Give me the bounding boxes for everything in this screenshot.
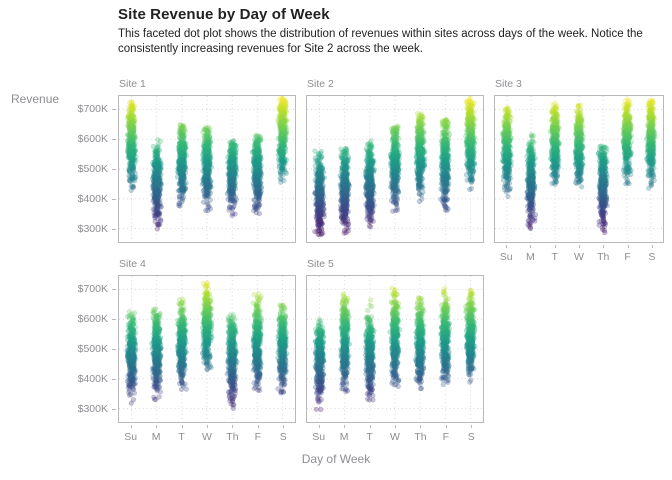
x-tick-mark [628,245,629,248]
x-tick-label-w: W [574,251,584,263]
y-tick-label: $700K [78,283,108,295]
y-tick-label: $600K [78,313,108,325]
x-axis-ticks: SuMTWThFS [118,425,296,441]
chart-header: Site Revenue by Day of Week This faceted… [118,6,663,57]
facet-title: Site 3 [495,78,522,90]
y-tick-mark [112,319,116,320]
facet-title: Site 2 [307,78,334,90]
y-tick-mark [112,349,116,350]
x-tick-mark [446,425,447,428]
x-tick-mark [207,425,208,428]
x-tick-mark [395,425,396,428]
x-tick-label-f: F [255,431,261,443]
x-tick-label-th: Th [226,431,238,443]
x-tick-label-w: W [202,431,212,443]
y-tick-mark [112,409,116,410]
x-tick-mark [156,425,157,428]
y-tick-label: $400K [78,373,108,385]
x-tick-label-m: M [152,431,161,443]
x-tick-mark [506,245,507,248]
chart-subtitle: This faceted dot plot shows the distribu… [118,27,658,57]
plot-area [306,275,484,423]
y-tick-mark [112,379,116,380]
plot-area [118,95,296,243]
y-axis-ticks: $300K$400K$500K$600K$700K [52,95,116,243]
x-axis-title: Day of Week [0,452,672,466]
x-tick-mark [652,245,653,248]
x-axis-ticks: SuMTWThFS [494,245,664,261]
x-tick-mark [530,245,531,248]
y-tick-label: $500K [78,343,108,355]
facet-panel-site-2: Site 2 [306,95,484,243]
x-tick-label-w: W [390,431,400,443]
y-tick-label: $300K [78,223,108,235]
x-tick-label-f: F [624,251,630,263]
x-tick-label-s: S [280,431,287,443]
y-tick-label: $700K [78,103,108,115]
y-tick-mark [112,169,116,170]
facet-title: Site 5 [307,258,334,270]
page-title: Site Revenue by Day of Week [118,6,663,23]
facet-panel-site-3: Site 3 [494,95,664,243]
facet-title: Site 1 [119,78,146,90]
y-tick-mark [112,289,116,290]
x-tick-mark [319,425,320,428]
x-tick-mark [344,425,345,428]
x-tick-label-su: Su [124,431,137,443]
y-tick-mark [112,109,116,110]
x-tick-mark [471,425,472,428]
y-tick-label: $400K [78,193,108,205]
x-tick-label-th: Th [597,251,609,263]
y-tick-label: $300K [78,403,108,415]
facet-panel-site-1: Site 1 [118,95,296,243]
x-tick-mark [603,245,604,248]
x-axis-ticks: SuMTWThFS [306,425,484,441]
x-tick-mark [258,425,259,428]
x-tick-mark [232,425,233,428]
facet-title: Site 4 [119,258,146,270]
x-tick-mark [131,425,132,428]
x-tick-label-t: T [178,431,184,443]
x-tick-label-f: F [443,431,449,443]
x-tick-mark [555,245,556,248]
facet-panel-site-5: Site 5 [306,275,484,423]
y-tick-label: $600K [78,133,108,145]
y-axis-ticks: $300K$400K$500K$600K$700K [52,275,116,423]
plot-area [494,95,664,243]
plot-area [118,275,296,423]
x-tick-label-s: S [468,431,475,443]
x-tick-label-t: T [366,431,372,443]
x-tick-label-m: M [340,431,349,443]
y-tick-mark [112,199,116,200]
plot-area [306,95,484,243]
x-tick-mark [283,425,284,428]
y-tick-label: $500K [78,163,108,175]
x-tick-label-t: T [551,251,557,263]
x-tick-label-su: Su [312,431,325,443]
x-tick-label-s: S [648,251,655,263]
y-tick-mark [112,139,116,140]
x-tick-mark [420,425,421,428]
x-tick-mark [182,425,183,428]
x-tick-mark [579,245,580,248]
facet-panel-site-4: Site 4 [118,275,296,423]
x-tick-mark [370,425,371,428]
x-tick-label-su: Su [500,251,513,263]
x-tick-label-th: Th [414,431,426,443]
y-tick-mark [112,229,116,230]
x-tick-label-m: M [526,251,535,263]
